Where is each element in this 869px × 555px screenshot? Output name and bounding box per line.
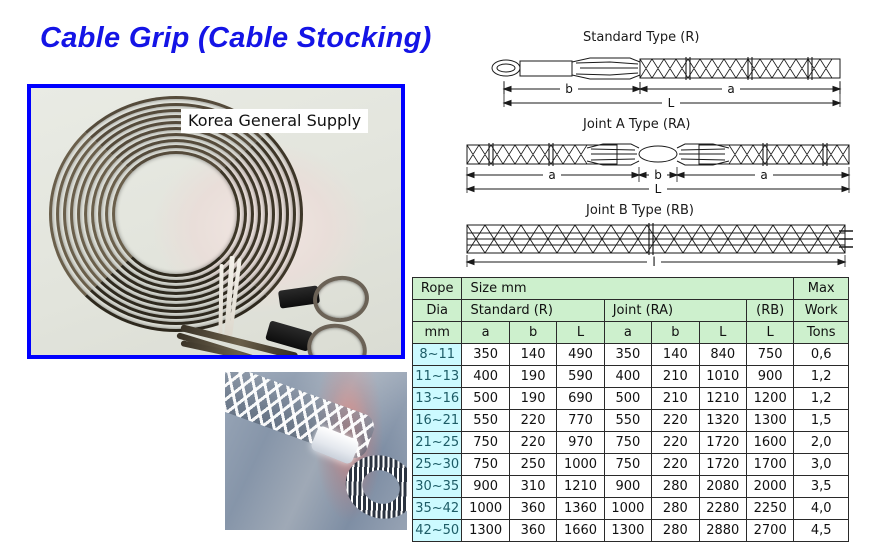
cell-value: 750	[462, 432, 509, 454]
table-row: 21~25750220970750220172016002,0	[413, 432, 849, 454]
cell-value: 220	[652, 432, 699, 454]
header-rb: (RB)	[746, 300, 793, 322]
cell-max-work-tons: 4,0	[794, 498, 849, 520]
cell-value: 280	[652, 520, 699, 542]
main-product-photo: Korea General Supply	[27, 84, 405, 359]
cell-max-work-tons: 1,2	[794, 388, 849, 410]
table-row: 42~50130036016601300280288027004,5	[413, 520, 849, 542]
cell-rope-dia: 25~30	[413, 454, 462, 476]
cell-value: 360	[509, 520, 556, 542]
cell-max-work-tons: 3,0	[794, 454, 849, 476]
cell-value: 280	[652, 476, 699, 498]
cell-value: 1210	[557, 476, 604, 498]
cell-value: 400	[462, 366, 509, 388]
cell-value: 2700	[746, 520, 793, 542]
drawing-caption-joint-b: Joint B Type (RB)	[586, 203, 694, 218]
cell-value: 2080	[699, 476, 746, 498]
cell-value: 500	[604, 388, 651, 410]
cell-value: 220	[509, 432, 556, 454]
cell-value: 750	[604, 432, 651, 454]
cell-value: 500	[462, 388, 509, 410]
header-max: Max	[794, 278, 849, 300]
closeup-product-photo	[225, 372, 407, 530]
table-row: 25~307502501000750220172017003,0	[413, 454, 849, 476]
table-header-row-1: Rope Size mm Max	[413, 278, 849, 300]
dim-label-a-standard: a	[727, 82, 734, 96]
header-col-joint-a: a	[604, 322, 651, 344]
drawing-caption-joint-a: Joint A Type (RA)	[583, 117, 690, 132]
header-col-joint-b: b	[652, 322, 699, 344]
cell-value: 140	[652, 344, 699, 366]
cell-rope-dia: 13~16	[413, 388, 462, 410]
header-col-rb-l: L	[746, 322, 793, 344]
cell-value: 190	[509, 366, 556, 388]
cell-value: 1000	[604, 498, 651, 520]
cell-rope-dia: 42~50	[413, 520, 462, 542]
cell-value: 1720	[699, 454, 746, 476]
specification-table: Rope Size mm Max Dia Standard (R) Joint …	[412, 277, 849, 542]
cell-value: 1300	[462, 520, 509, 542]
table-header-row-2: Dia Standard (R) Joint (RA) (RB) Work	[413, 300, 849, 322]
cell-max-work-tons: 2,0	[794, 432, 849, 454]
cell-value: 1000	[462, 498, 509, 520]
cell-rope-dia: 8~11	[413, 344, 462, 366]
cell-value: 210	[652, 388, 699, 410]
table-body: 8~113501404903501408407500,611~134001905…	[413, 344, 849, 542]
cell-value: 310	[509, 476, 556, 498]
cell-value: 220	[652, 410, 699, 432]
cell-value: 1720	[699, 432, 746, 454]
cell-value: 250	[509, 454, 556, 476]
dim-label-b-joint-a: b	[654, 168, 662, 182]
cell-value: 900	[604, 476, 651, 498]
dim-label-a-left-joint-a: a	[548, 168, 555, 182]
cell-value: 750	[462, 454, 509, 476]
cell-value: 840	[699, 344, 746, 366]
dim-label-a-right-joint-a: a	[760, 168, 767, 182]
cell-value: 900	[746, 366, 793, 388]
cell-value: 690	[557, 388, 604, 410]
cell-value: 2280	[699, 498, 746, 520]
table-row: 8~113501404903501408407500,6	[413, 344, 849, 366]
cell-value: 750	[604, 454, 651, 476]
header-col-standard-b: b	[509, 322, 556, 344]
table-row: 35~42100036013601000280228022504,0	[413, 498, 849, 520]
table-header: Rope Size mm Max Dia Standard (R) Joint …	[413, 278, 849, 344]
header-work: Work	[794, 300, 849, 322]
cell-value: 900	[462, 476, 509, 498]
header-joint-ra: Joint (RA)	[604, 300, 746, 322]
header-rope: Rope	[413, 278, 462, 300]
cell-value: 140	[509, 344, 556, 366]
dim-label-L-standard: L	[668, 96, 675, 108]
header-standard-r: Standard (R)	[462, 300, 604, 322]
cell-rope-dia: 30~35	[413, 476, 462, 498]
table-row: 30~359003101210900280208020003,5	[413, 476, 849, 498]
photo-caption-label: Korea General Supply	[181, 109, 368, 133]
cell-value: 1660	[557, 520, 604, 542]
cell-value: 2880	[699, 520, 746, 542]
cell-value: 400	[604, 366, 651, 388]
cell-value: 280	[652, 498, 699, 520]
header-col-joint-l: L	[699, 322, 746, 344]
cell-value: 350	[462, 344, 509, 366]
cell-value: 590	[557, 366, 604, 388]
cell-value: 550	[462, 410, 509, 432]
cell-value: 770	[557, 410, 604, 432]
cell-value: 210	[652, 366, 699, 388]
cell-value: 490	[557, 344, 604, 366]
page-title: Cable Grip (Cable Stocking)	[40, 22, 432, 55]
cell-rope-dia: 35~42	[413, 498, 462, 520]
cell-value: 360	[509, 498, 556, 520]
drawing-joint-b-type: l	[463, 219, 853, 269]
header-dia: Dia	[413, 300, 462, 322]
cell-value: 1320	[699, 410, 746, 432]
cell-value: 2000	[746, 476, 793, 498]
wire-coil-illustration	[49, 96, 299, 346]
table-row: 13~16500190690500210121012001,2	[413, 388, 849, 410]
header-tons: Tons	[794, 322, 849, 344]
cell-value: 350	[604, 344, 651, 366]
header-size-mm: Size mm	[462, 278, 794, 300]
cell-rope-dia: 21~25	[413, 432, 462, 454]
dim-label-l-joint-b: l	[652, 255, 655, 269]
cell-value: 750	[746, 344, 793, 366]
cell-value: 1210	[699, 388, 746, 410]
dim-label-b-standard: b	[565, 82, 573, 96]
cell-max-work-tons: 4,5	[794, 520, 849, 542]
cell-value: 1300	[746, 410, 793, 432]
cell-value: 1600	[746, 432, 793, 454]
drawing-joint-a-type: a b a L	[463, 136, 853, 194]
drawing-standard-type: b a L	[490, 50, 850, 108]
cell-rope-dia: 16~21	[413, 410, 462, 432]
cell-value: 1000	[557, 454, 604, 476]
cell-rope-dia: 11~13	[413, 366, 462, 388]
table-header-row-3: mm a b L a b L L Tons	[413, 322, 849, 344]
cell-value: 1200	[746, 388, 793, 410]
dim-label-L-joint-a: L	[655, 182, 662, 194]
table-row: 11~1340019059040021010109001,2	[413, 366, 849, 388]
cell-value: 970	[557, 432, 604, 454]
cell-value: 550	[604, 410, 651, 432]
cell-value: 220	[652, 454, 699, 476]
cell-max-work-tons: 0,6	[794, 344, 849, 366]
cell-value: 1300	[604, 520, 651, 542]
drawing-caption-standard: Standard Type (R)	[583, 30, 699, 45]
header-col-standard-l: L	[557, 322, 604, 344]
cell-max-work-tons: 1,2	[794, 366, 849, 388]
cell-value: 1360	[557, 498, 604, 520]
table-row: 16~21550220770550220132013001,5	[413, 410, 849, 432]
cell-value: 1700	[746, 454, 793, 476]
cell-value: 1010	[699, 366, 746, 388]
cell-value: 2250	[746, 498, 793, 520]
header-mm: mm	[413, 322, 462, 344]
cell-max-work-tons: 3,5	[794, 476, 849, 498]
cell-max-work-tons: 1,5	[794, 410, 849, 432]
header-col-standard-a: a	[462, 322, 509, 344]
cell-value: 220	[509, 410, 556, 432]
closeup-highlight	[225, 372, 407, 530]
cell-value: 190	[509, 388, 556, 410]
